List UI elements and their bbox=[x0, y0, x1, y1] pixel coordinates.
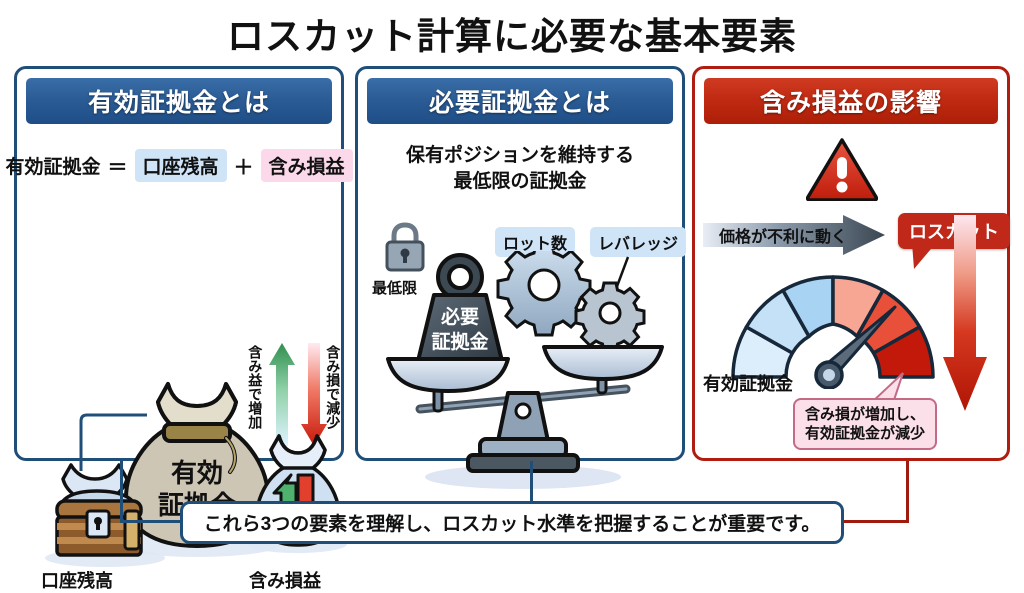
warning-triangle-icon bbox=[806, 137, 878, 201]
required-subtitle: 保有ポジションを維持する 最低限の証拠金 bbox=[358, 143, 682, 194]
connector-mid-vertical bbox=[530, 461, 533, 503]
balance-scale-icon: 必要 証拠金 bbox=[376, 251, 670, 491]
caption-account-balance: 口座残高 bbox=[41, 567, 113, 593]
page-title: ロスカット計算に必要な基本要素 bbox=[0, 6, 1024, 60]
price-move-label: 価格が不利に動く bbox=[719, 223, 847, 247]
infographic-root: ロスカット計算に必要な基本要素 有効証拠金とは 有効証拠金 ＝ 口座残高 ＋ 含… bbox=[0, 0, 1024, 559]
connector-right-vertical bbox=[906, 461, 909, 523]
gauge-caption-equity: 有効証拠金 bbox=[703, 370, 793, 396]
panel-required-header: 必要証拠金とは bbox=[367, 78, 673, 124]
callout-line1: 含み損が増加し、 bbox=[805, 405, 925, 424]
panel-unrealized-body: 価格が不利に動く ロスカット bbox=[695, 131, 1007, 458]
equity-gauge bbox=[723, 249, 943, 389]
panel-unrealized-header: 含み損益の影響 bbox=[704, 78, 998, 124]
summary-banner: これら3つの要素を理解し、ロスカット水準を把握することが重要です。 bbox=[180, 501, 844, 544]
equity-formula: 有効証拠金 ＝ 口座残高 ＋ 含み損益 bbox=[17, 149, 341, 182]
connector-right-horizontal bbox=[840, 520, 909, 523]
connector-left-vertical bbox=[120, 461, 123, 523]
panel-equity: 有効証拠金とは 有効証拠金 ＝ 口座残高 ＋ 含み損益 含み益で増加 含み損で減… bbox=[14, 66, 344, 461]
panel-unrealized-impact: 含み損益の影響 価格が不利に動く bbox=[692, 66, 1010, 461]
panel-equity-body: 有効証拠金 ＝ 口座残高 ＋ 含み損益 含み益で増加 含み損で減少 bbox=[17, 131, 341, 458]
formula-term-balance: 口座残高 bbox=[135, 149, 227, 182]
panel-required-margin: 必要証拠金とは 保有ポジションを維持する 最低限の証拠金 最低限 ロット数 レバ… bbox=[355, 66, 685, 461]
big-red-down-arrow-icon bbox=[943, 215, 987, 411]
panel-equity-header: 有効証拠金とは bbox=[26, 78, 332, 124]
required-subtitle-line1: 保有ポジションを維持する bbox=[358, 143, 682, 169]
svg-text:有効: 有効 bbox=[171, 458, 223, 488]
caption-unrealized-pl: 含み損益 bbox=[249, 567, 321, 593]
callout-line2: 有効証拠金が減少 bbox=[805, 424, 925, 443]
required-margin-weight-icon: 必要 証拠金 bbox=[418, 255, 502, 361]
unrealized-loss-callout: 含み損が増加し、 有効証拠金が減少 bbox=[793, 398, 937, 450]
gear-small-icon bbox=[576, 283, 644, 351]
required-subtitle-line2: 最低限の証拠金 bbox=[358, 169, 682, 195]
svg-text:証拠金: 証拠金 bbox=[431, 330, 488, 353]
panel-required-body: 保有ポジションを維持する 最低限の証拠金 最低限 ロット数 レバレッジ bbox=[358, 131, 682, 458]
connector-left-horizontal bbox=[120, 520, 186, 523]
formula-equals-sign: ＝ bbox=[108, 151, 128, 180]
svg-text:必要: 必要 bbox=[440, 305, 479, 328]
loss-arrow-label: 含み損で減少 bbox=[326, 345, 340, 429]
treasure-chest-icon bbox=[51, 461, 161, 561]
formula-plus-sign: ＋ bbox=[234, 151, 254, 180]
formula-term-unrealized: 含み損益 bbox=[261, 149, 353, 182]
formula-left-term: 有効証拠金 bbox=[5, 152, 100, 179]
